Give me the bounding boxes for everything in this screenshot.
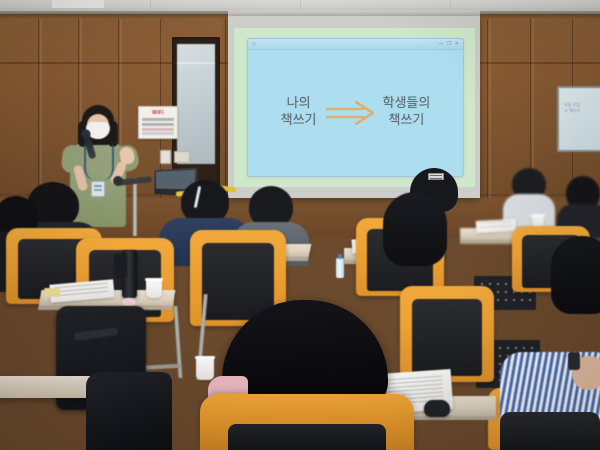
vignette <box>0 0 600 450</box>
lecture-hall-photo: 오늘 수업＊ 책쓰기 WiFi ⌂ — ❐ ✕ 나의 책쓰기 <box>0 0 600 450</box>
